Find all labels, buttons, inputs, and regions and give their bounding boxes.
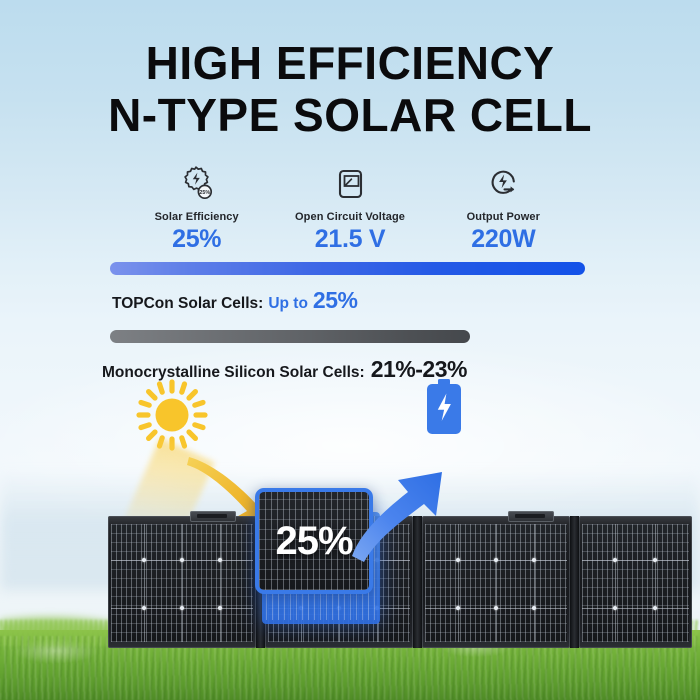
topcon-value: 25% — [313, 287, 358, 314]
voltage-meter-icon — [273, 163, 426, 205]
topcon-qualifier: Up to — [268, 295, 308, 313]
topcon-bar-fill — [110, 262, 585, 275]
topcon-bar-track — [110, 262, 590, 275]
power-output-bolt-icon — [427, 163, 580, 205]
mono-bar-track — [110, 330, 590, 343]
panel-segment — [579, 516, 692, 648]
solar-efficiency-badge-icon: 25% — [120, 163, 273, 205]
sun-icon — [135, 378, 209, 452]
panel-segment — [108, 516, 256, 648]
title-line-1: HIGH EFFICIENCY — [0, 40, 700, 87]
stat-value: 220W — [427, 225, 580, 254]
panel-clip — [190, 511, 236, 522]
power-output-arrow-icon — [350, 430, 490, 570]
stat-output-power: Output Power 220W — [427, 163, 580, 254]
stat-label: Open Circuit Voltage — [273, 211, 426, 223]
stat-open-circuit-voltage: Open Circuit Voltage 21.5 V — [273, 163, 426, 254]
mono-bar-fill — [110, 330, 470, 343]
title-line-2: N-TYPE SOLAR CELL — [0, 92, 700, 139]
stat-label: Output Power — [427, 211, 580, 223]
page-title: HIGH EFFICIENCY N-TYPE SOLAR CELL — [0, 40, 700, 139]
infographic-canvas: HIGH EFFICIENCY N-TYPE SOLAR CELL 25% So… — [0, 0, 700, 700]
stat-label: Solar Efficiency — [120, 211, 273, 223]
panel-cell-grid — [582, 524, 689, 642]
efficiency-comparison: TOPCon Solar Cells: Up to 25% Monocrysta… — [110, 262, 590, 383]
panel-clip — [508, 511, 554, 522]
stat-solar-efficiency: 25% Solar Efficiency 25% — [120, 163, 273, 254]
battery-charge-icon — [422, 378, 466, 436]
spec-stats-row: 25% Solar Efficiency 25% Open Circuit Vo… — [120, 163, 580, 254]
efficiency-badge-text: 25% — [199, 190, 210, 196]
topcon-caption: TOPCon Solar Cells: Up to 25% — [112, 287, 590, 314]
topcon-label: TOPCon Solar Cells: — [112, 295, 263, 313]
stat-value: 21.5 V — [273, 225, 426, 254]
stat-value: 25% — [120, 225, 273, 254]
